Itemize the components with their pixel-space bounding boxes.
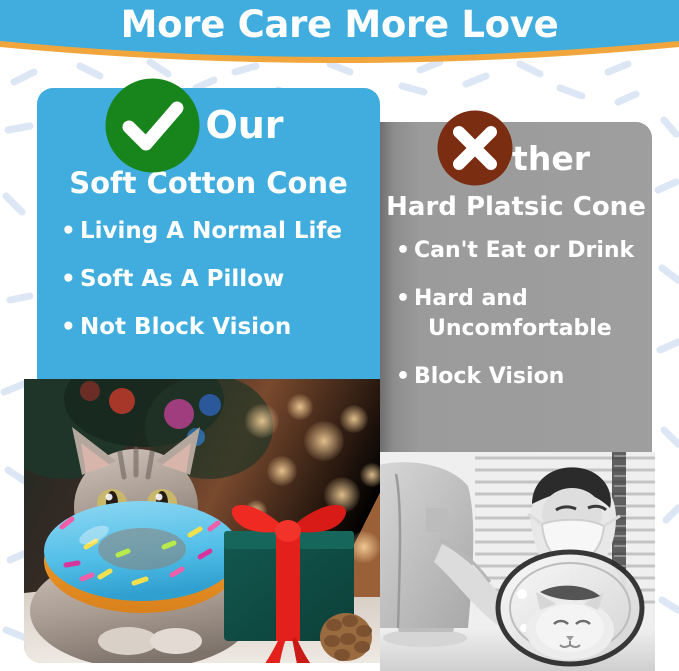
bullet-icon: • [61, 312, 76, 343]
list-item-label: Living A Normal Life [80, 218, 342, 244]
bullet-icon: • [396, 236, 410, 266]
list-item: • Living A Normal Life [61, 216, 371, 247]
x-circle-icon [437, 110, 513, 186]
our-panel: Our Soft Cotton Cone • Living A Normal L… [37, 88, 380, 379]
list-item: • Not Block Vision [61, 312, 371, 343]
our-feature-list: • Living A Normal Life • Soft As A Pillo… [61, 216, 371, 360]
vets-fitting-hard-plastic-cone-photo [380, 452, 655, 671]
other-heading-row: Other [380, 132, 652, 186]
list-item-label: Hard and [414, 286, 528, 311]
list-item-label: Can't Eat or Drink [414, 238, 634, 263]
comparison-infographic: More Care More Love Other Hard Platsic C… [0, 0, 679, 671]
bullet-icon: • [61, 264, 76, 295]
bullet-icon: • [61, 216, 76, 247]
bullet-icon: • [396, 284, 410, 314]
list-item-label: Soft As A Pillow [80, 266, 284, 292]
list-item-label: Block Vision [414, 364, 564, 389]
page-title: More Care More Love [0, 1, 679, 49]
our-heading-row: Our [37, 94, 380, 156]
other-feature-list: • Can't Eat or Drink • Hard and Uncomfor… [396, 236, 648, 410]
list-item: • Soft As A Pillow [61, 264, 371, 295]
cat-wearing-soft-donut-cone-photo [24, 379, 380, 663]
other-subtitle: Hard Platsic Cone [380, 190, 652, 224]
check-circle-icon [105, 78, 200, 173]
list-item: • Block Vision [396, 362, 648, 392]
list-item: • Hard and Uncomfortable [396, 284, 648, 344]
bullet-icon: • [396, 362, 410, 392]
other-panel: Other Hard Platsic Cone • Can't Eat or D… [380, 122, 652, 452]
list-item: • Can't Eat or Drink [396, 236, 648, 266]
list-item-label-line2: Uncomfortable [414, 314, 648, 344]
list-item-label: Not Block Vision [80, 314, 291, 340]
our-subtitle: Soft Cotton Cone [37, 164, 380, 202]
